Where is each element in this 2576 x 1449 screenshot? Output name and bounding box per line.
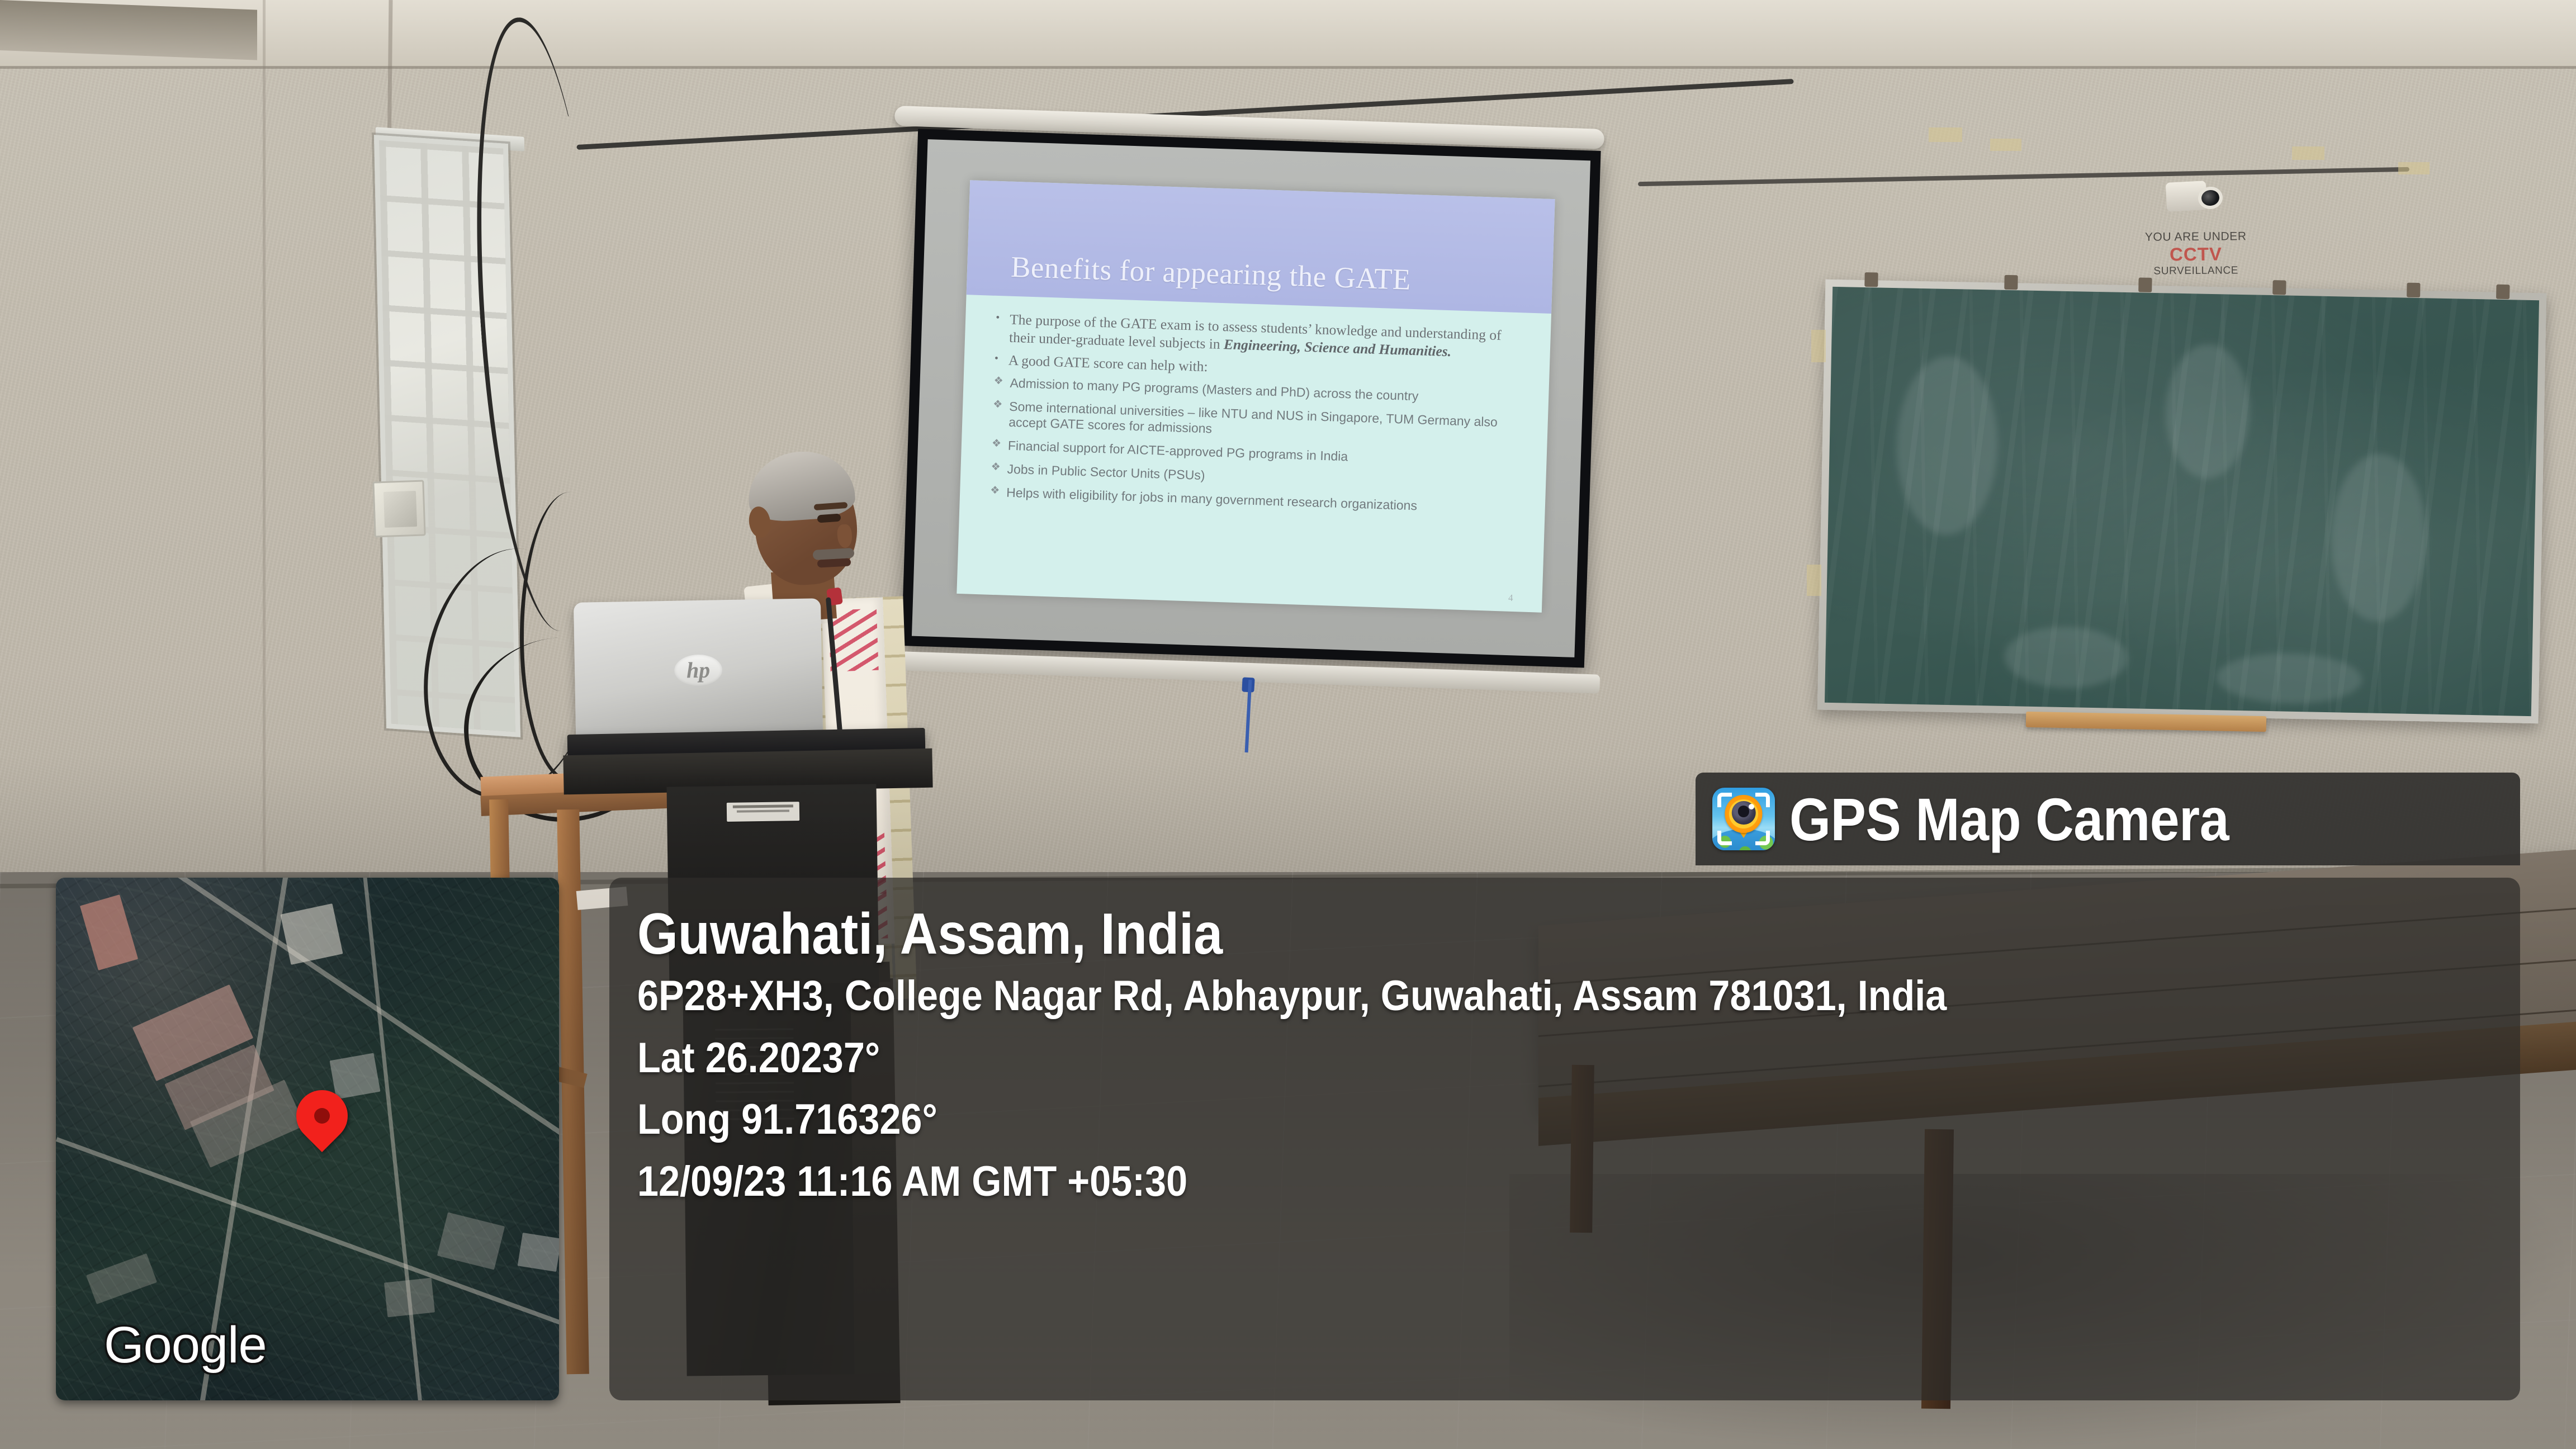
map-building: [384, 1278, 435, 1318]
viewfinder-corner-icon: [1755, 793, 1770, 807]
gps-map-camera-icon: [1712, 788, 1775, 850]
wall-tape: [1990, 139, 2021, 151]
presenter-eye: [817, 514, 841, 523]
ceiling-beam: [0, 0, 257, 60]
podium-nameplate: [727, 802, 799, 822]
blackboard: [1817, 280, 2547, 724]
slide-body: • The purpose of the GATE exam is to ass…: [960, 295, 1551, 518]
diamond-bullet-icon: ❖: [991, 461, 1001, 477]
blackboard-surface: [1825, 287, 2539, 716]
ceiling-edge-line: [0, 66, 2576, 69]
cctv-sign-line1: YOU ARE UNDER: [2126, 230, 2266, 244]
gps-info-panel: Guwahati, Assam, India 6P28+XH3, College…: [609, 878, 2520, 1400]
map-building: [518, 1233, 559, 1272]
diamond-bullet-icon: ❖: [992, 397, 1003, 430]
wall-tape: [2398, 162, 2430, 174]
slide-sub-bullet-text: Helps with eligibility for jobs in many …: [1006, 484, 1418, 513]
hp-logo: hp: [674, 654, 723, 686]
cctv-warning-sign: YOU ARE UNDER CCTV SURVEILLANCE: [2126, 230, 2266, 278]
slide-header-band: Benefits for appearing the GATE: [967, 180, 1555, 314]
location-latitude: Lat 26.20237°: [637, 1036, 2332, 1081]
viewfinder-corner-icon: [1717, 793, 1732, 807]
wall-tape: [1929, 127, 1962, 142]
wall-tape: [2292, 146, 2324, 160]
wall-switch-box: [372, 480, 425, 537]
viewfinder-corner-icon: [1755, 831, 1770, 845]
map-building: [280, 903, 343, 965]
gps-map-camera-header: GPS Map Camera: [1696, 773, 2520, 865]
ceiling: [0, 0, 2576, 67]
viewfinder-corner-icon: [1717, 831, 1732, 845]
diamond-bullet-icon: ❖: [990, 484, 1000, 500]
location-timestamp: 12/09/23 11:16 AM GMT +05:30: [637, 1159, 2332, 1205]
slide-sub-bullet-text: Financial support for AICTE-approved PG …: [1008, 438, 1348, 465]
map-thumbnail[interactable]: Google: [56, 878, 559, 1400]
diamond-bullet-icon: ❖: [991, 437, 1001, 453]
wall-tape: [1807, 565, 1821, 596]
slide-sub-bullet-text: Jobs in Public Sector Units (PSUs): [1007, 461, 1205, 484]
location-longitude: Long 91.716326°: [637, 1097, 2332, 1143]
location-city: Guwahati, Assam, India: [637, 905, 2332, 964]
slide-sub-bullet-list: ❖ Admission to many PG programs (Masters…: [990, 375, 1524, 517]
slide-page-number: 4: [1508, 593, 1513, 604]
laptop: hp: [574, 598, 823, 737]
map-building: [330, 1053, 381, 1100]
google-watermark: Google: [104, 1316, 267, 1375]
bullet-glyph: •: [995, 310, 1000, 345]
bullet-glyph: •: [994, 351, 998, 369]
diamond-bullet-icon: ❖: [993, 375, 1003, 391]
location-address: 6P28+XH3, College Nagar Rd, Abhaypur, Gu…: [637, 974, 2332, 1019]
app-title: GPS Map Camera: [1789, 784, 2229, 854]
cctv-sign-line2: CCTV: [2126, 243, 2266, 266]
presentation-slide: Benefits for appearing the GATE • The pu…: [956, 180, 1555, 612]
screenshot-root: Benefits for appearing the GATE • The pu…: [0, 0, 2576, 1449]
slide-paragraph-2-text: A good GATE score can help with:: [1008, 352, 1208, 376]
cctv-sign-line3: SURVEILLANCE: [2126, 264, 2266, 278]
wall-tape: [1811, 330, 1826, 362]
